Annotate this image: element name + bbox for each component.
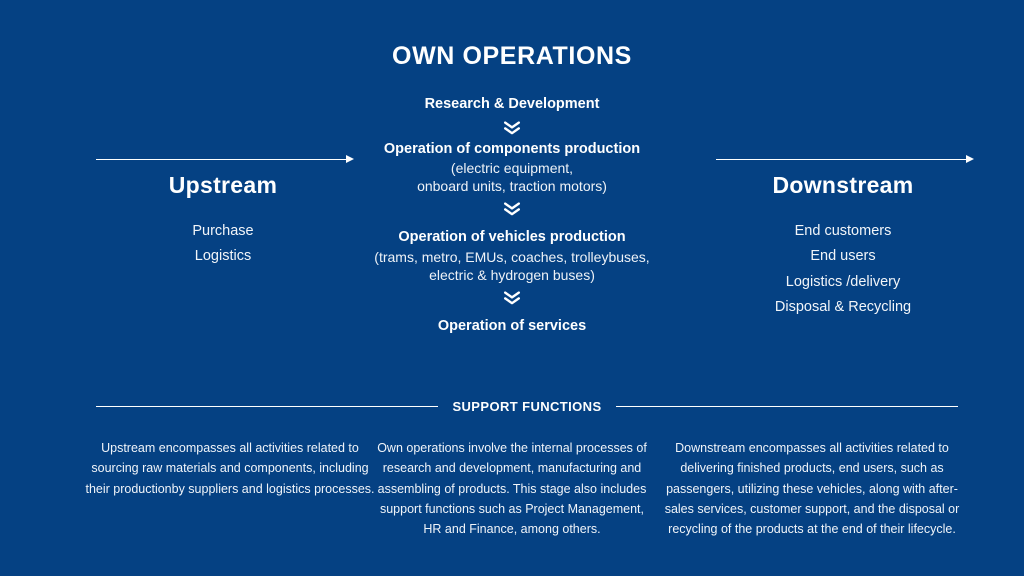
list-item: End customers bbox=[682, 224, 1004, 239]
list-item: End users bbox=[682, 249, 1004, 264]
support-functions-divider: SUPPORT FUNCTIONS bbox=[96, 398, 958, 414]
diagram-canvas: OWN OPERATIONS Upstream Purchase Logisti… bbox=[0, 0, 1024, 576]
divider-rule-left bbox=[96, 406, 438, 407]
double-chevron-down-icon bbox=[503, 291, 521, 305]
double-chevron-down-icon bbox=[503, 202, 521, 216]
flow-step-detail: (electric equipment,onboard units, tract… bbox=[352, 160, 672, 195]
support-functions-label: SUPPORT FUNCTIONS bbox=[452, 399, 601, 414]
description-downstream: Downstream encompasses all activities re… bbox=[654, 438, 970, 539]
value-chain-columns: Upstream Purchase Logistics Research & D… bbox=[0, 96, 1024, 386]
column-heading-downstream: Downstream bbox=[682, 172, 1004, 200]
flow-step-title: Research & Development bbox=[352, 96, 672, 114]
list-item: Logistics /delivery bbox=[682, 275, 1004, 290]
column-downstream: Downstream End customers End users Logis… bbox=[682, 96, 1004, 326]
arrow-right-icon bbox=[62, 154, 384, 166]
divider-rule-right bbox=[616, 406, 958, 407]
arrow-line bbox=[716, 159, 970, 160]
flow-step-title: Operation of services bbox=[352, 318, 672, 336]
double-chevron-down-icon bbox=[503, 121, 521, 135]
descriptions: Upstream encompasses all activities rela… bbox=[0, 438, 1024, 558]
column-upstream: Upstream Purchase Logistics bbox=[62, 96, 384, 275]
arrow-line bbox=[96, 159, 350, 160]
page-title: OWN OPERATIONS bbox=[0, 42, 1024, 71]
column-heading-upstream: Upstream bbox=[62, 172, 384, 200]
list-item: Logistics bbox=[62, 249, 384, 264]
description-own-operations: Own operations involve the internal proc… bbox=[372, 438, 652, 539]
flow-step-title: Operation of components production bbox=[352, 141, 672, 159]
column-own-operations: Research & Development Operation of comp… bbox=[352, 96, 672, 336]
flow-step-detail: (trams, metro, EMUs, coaches, trolleybus… bbox=[352, 249, 672, 284]
list-item: Disposal & Recycling bbox=[682, 300, 1004, 315]
flow-step-title: Operation of vehicles production bbox=[352, 229, 672, 247]
list-item: Purchase bbox=[62, 224, 384, 239]
description-upstream: Upstream encompasses all activities rela… bbox=[80, 438, 380, 499]
arrow-head bbox=[966, 155, 974, 163]
arrow-right-icon bbox=[682, 154, 1004, 166]
